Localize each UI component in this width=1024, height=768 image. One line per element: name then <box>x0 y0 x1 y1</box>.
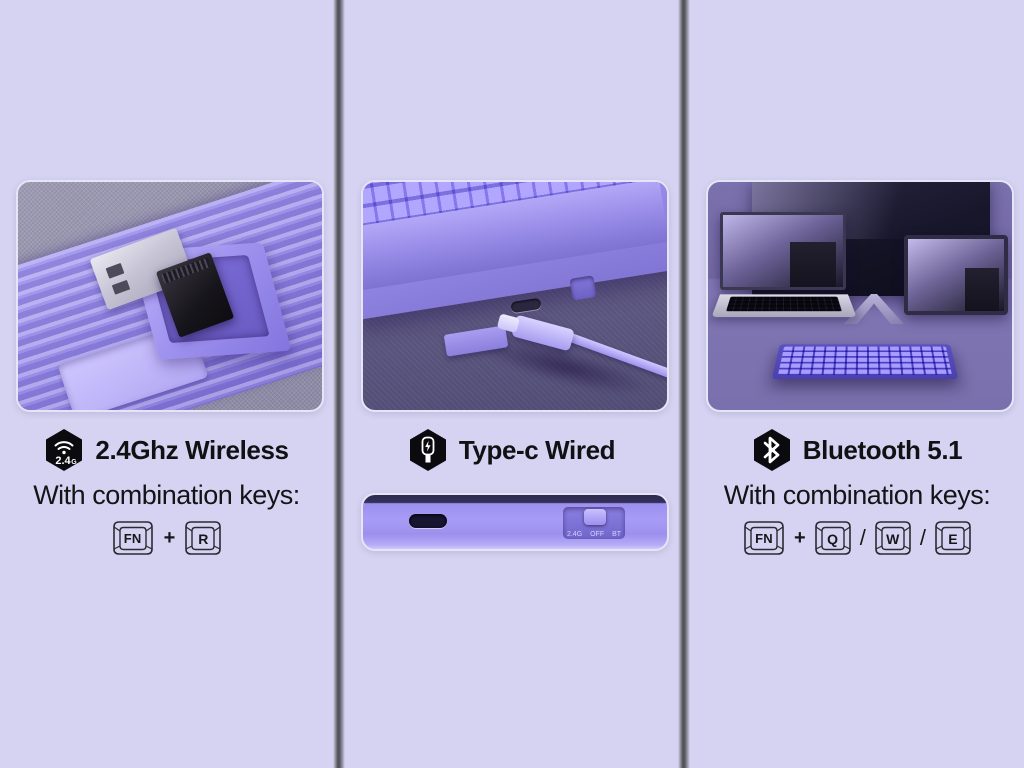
wifi-2-4g-hex-icon: 2.4 G <box>44 428 84 472</box>
bluetooth-hex-icon <box>752 428 792 472</box>
keycap-label: FN <box>109 519 157 561</box>
key-separator-slash: / <box>859 527 867 549</box>
key-separator-slash: / <box>919 527 927 549</box>
mode-switch <box>569 275 596 300</box>
switch-mark-bt: BT <box>612 531 621 538</box>
heading-label: Type-c Wired <box>459 435 615 466</box>
mechanical-keyboard <box>772 344 958 379</box>
keycap-label: R <box>182 519 224 561</box>
heading-label: 2.4Ghz Wireless <box>95 435 288 466</box>
panel-divider-1 <box>333 0 345 768</box>
infographic-page: 2.4 G 2.4Ghz Wireless With combination k… <box>0 0 1024 768</box>
keycap-q[interactable]: Q <box>812 519 854 561</box>
switch-mark-2-4g: 2.4G <box>567 531 582 538</box>
keyrow-bluetooth: FN + Q / W / <box>690 519 1024 561</box>
keyrow-2-4ghz: FN + R <box>0 519 333 561</box>
heading-2-4ghz: 2.4 G 2.4Ghz Wireless <box>0 428 333 472</box>
photo-2-4ghz-dongle <box>16 180 324 412</box>
mode-switch-knob <box>584 509 606 525</box>
keycap-label: FN <box>740 519 788 561</box>
keycap-label: W <box>872 519 914 561</box>
laptop-base <box>711 294 856 317</box>
keycap-fn[interactable]: FN <box>740 519 788 561</box>
key-separator-plus: + <box>163 528 177 548</box>
heading-bluetooth: Bluetooth 5.1 <box>690 428 1024 472</box>
laptop-screen <box>720 212 846 290</box>
panel-divider-2 <box>678 0 690 768</box>
photo-keyboard-ports-closeup: 2.4G OFF BT <box>361 493 669 551</box>
usb-type-c-hex-icon <box>408 428 448 472</box>
combo-label-bluetooth: With combination keys: <box>690 480 1024 511</box>
heading-label: Bluetooth 5.1 <box>803 435 962 466</box>
keycap-label: Q <box>812 519 854 561</box>
usb-c-port-closeup <box>409 514 447 528</box>
keycap-w[interactable]: W <box>872 519 914 561</box>
keycap-r[interactable]: R <box>182 519 224 561</box>
heading-type-c: Type-c Wired <box>345 428 678 472</box>
switch-mark-off: OFF <box>590 531 604 538</box>
keycap-label: E <box>932 519 974 561</box>
photo-bluetooth-multidevice <box>706 180 1014 412</box>
mode-switch-markings: 2.4G OFF BT <box>563 528 625 540</box>
keycap-fn[interactable]: FN <box>109 519 157 561</box>
svg-text:2.4: 2.4 <box>56 455 72 467</box>
photo-type-c-cable <box>361 180 669 412</box>
combo-label-2-4ghz: With combination keys: <box>0 480 333 511</box>
keycap-e[interactable]: E <box>932 519 974 561</box>
tablet <box>904 235 1008 315</box>
key-separator-plus: + <box>793 528 807 548</box>
svg-text:G: G <box>72 459 78 466</box>
